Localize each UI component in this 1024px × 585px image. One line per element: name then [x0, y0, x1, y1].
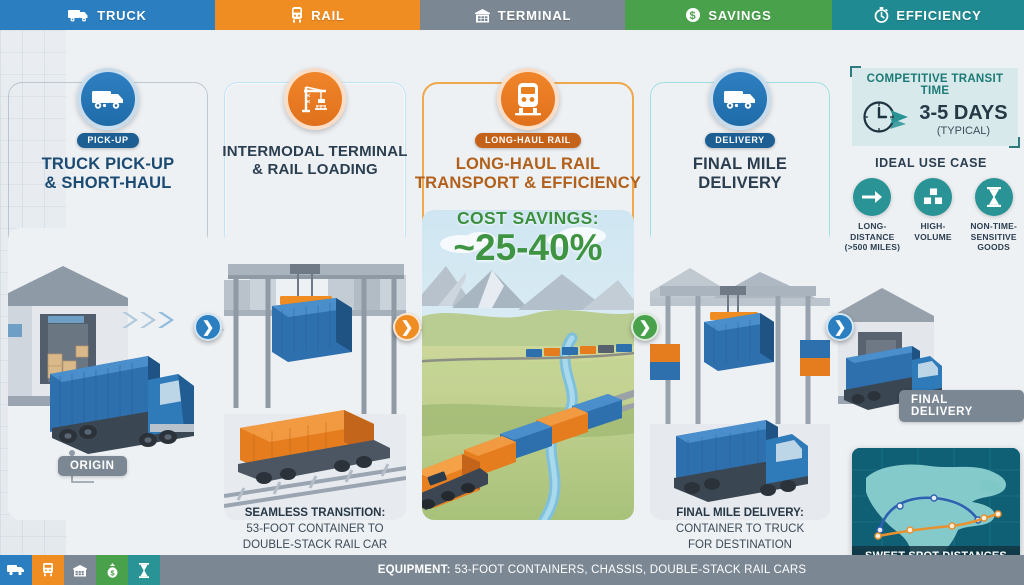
top-segment-efficiency[interactable]: EFFICIENCY — [832, 0, 1024, 30]
scene-final-terminal — [650, 228, 830, 520]
scene-origin-warehouse — [8, 228, 208, 520]
cost-savings-label: COST SAVINGS: — [414, 208, 642, 229]
transit-time-box: COMPETITIVE TRANSIT TIME 3 — [852, 68, 1018, 146]
equipment-text-bar: EQUIPMENT: 53-FOOT CONTAINERS, CHASSIS, … — [160, 555, 1024, 585]
panel-header: INTERMODAL TERMINAL & RAIL LOADING — [216, 68, 414, 178]
cost-savings-value: ~25-40% — [414, 229, 642, 268]
step-title-line2: & SHORT-HAUL — [0, 174, 216, 193]
caption-title: SEAMLESS TRANSITION: — [216, 506, 414, 522]
step-title-line1: INTERMODAL TERMINAL — [216, 143, 414, 161]
top-segment-label: RAIL — [311, 8, 345, 23]
top-segment-label: EFFICIENCY — [896, 8, 981, 23]
truck-icon — [77, 68, 139, 130]
use-case-line-2: SENSITIVE — [963, 232, 1024, 243]
step-badge: PICK-UP — [77, 133, 138, 148]
stopwatch-icon — [874, 7, 889, 23]
step-title-line1: LONG-HAUL RAIL — [414, 155, 642, 174]
use-case-line-1: LONG-DISTANCE — [842, 221, 903, 242]
step-title-line2: & RAIL LOADING — [216, 161, 414, 179]
use-case-line-2: (>500 MILES) — [842, 242, 903, 253]
use-case-line-3: GOODS — [963, 242, 1024, 253]
top-segment-savings[interactable]: $ SAVINGS — [625, 0, 832, 30]
cost-savings-block: COST SAVINGS: ~25-40% — [414, 208, 642, 268]
boxes-icon — [914, 178, 952, 216]
bottom-equipment-bar: $ EQUIPMENT: 53-FOOT CONTAINERS, CHASSIS… — [0, 555, 1024, 585]
chip-train-icon — [32, 555, 64, 585]
dollar-icon: $ — [685, 7, 701, 23]
top-segment-terminal[interactable]: TERMINAL — [420, 0, 625, 30]
top-segment-rail[interactable]: RAIL — [215, 0, 420, 30]
flow-arrow-3[interactable]: ❯ — [631, 313, 659, 341]
panel-header: DELIVERY FINAL MILE DELIVERY — [642, 68, 838, 194]
transit-time-title: COMPETITIVE TRANSIT TIME — [852, 68, 1018, 97]
equipment-label: EQUIPMENT: — [378, 564, 451, 576]
caption-line-1: CONTAINER TO TRUCK — [642, 522, 838, 538]
infographic-canvas: PICK-UP TRUCK PICK-UP & SHORT-HAUL — [0, 30, 1024, 585]
caption-seamless-transition: SEAMLESS TRANSITION: 53-FOOT CONTAINER T… — [216, 506, 414, 554]
caption-line-2: FOR DESTINATION — [642, 538, 838, 554]
corner-bracket-br — [1009, 137, 1020, 148]
step-title-line2: TRANSPORT & EFFICIENCY — [414, 174, 642, 193]
step-title-line1: FINAL MILE — [642, 155, 838, 174]
crane-icon — [284, 68, 346, 130]
step-badge: DELIVERY — [705, 133, 774, 148]
corner-bracket-tl — [850, 66, 861, 77]
top-segment-truck[interactable]: TRUCK — [0, 0, 215, 30]
step-panel-final-mile[interactable]: DELIVERY FINAL MILE DELIVERY — [642, 60, 838, 552]
panel-header: PICK-UP TRUCK PICK-UP & SHORT-HAUL — [0, 68, 216, 194]
top-category-bar: TRUCK RAIL TERMINAL $ SAVINGS EFFICIENCY — [0, 0, 1024, 30]
flow-arrow-4[interactable]: ❯ — [826, 313, 854, 341]
flow-arrow-1[interactable]: ❯ — [194, 313, 222, 341]
use-case-list: LONG-DISTANCE (>500 MILES) HIGH-VOLUME N… — [842, 178, 1024, 253]
step-badge: LONG-HAUL RAIL — [475, 133, 581, 148]
use-case-high-volume[interactable]: HIGH-VOLUME — [903, 178, 964, 253]
clock-arrow-icon — [862, 99, 914, 140]
chip-warehouse-icon — [64, 555, 96, 585]
truck-icon — [68, 8, 90, 23]
top-segment-label: TRUCK — [97, 8, 147, 23]
scene-terminal-crane — [224, 228, 406, 520]
step-panel-intermodal-terminal[interactable]: INTERMODAL TERMINAL & RAIL LOADING — [216, 60, 414, 552]
flow-arrow-2[interactable]: ❯ — [393, 313, 421, 341]
caption-line-1: 53-FOOT CONTAINER TO — [216, 522, 414, 538]
ideal-use-case-title: IDEAL USE CASE — [838, 156, 1024, 170]
caption-line-2: DOUBLE-STACK RAIL CAR — [216, 538, 414, 554]
caption-final-mile: FINAL MILE DELIVERY: CONTAINER TO TRUCK … — [642, 506, 838, 554]
chip-truck-icon — [0, 555, 32, 585]
use-case-non-time-sensitive[interactable]: NON-TIME- SENSITIVE GOODS — [963, 178, 1024, 253]
svg-text:$: $ — [690, 10, 697, 22]
use-case-line-1: HIGH-VOLUME — [903, 221, 964, 242]
use-case-long-distance[interactable]: LONG-DISTANCE (>500 MILES) — [842, 178, 903, 253]
caption-title: FINAL MILE DELIVERY: — [642, 506, 838, 522]
origin-pill: ORIGIN — [58, 456, 127, 476]
train-icon — [290, 7, 304, 23]
transit-typical-note: (TYPICAL) — [919, 125, 1007, 137]
chip-dollar-icon: $ — [96, 555, 128, 585]
truck-icon — [709, 68, 771, 130]
equipment-value: 53-FOOT CONTAINERS, CHASSIS, DOUBLE-STAC… — [455, 564, 807, 576]
step-title-line2: DELIVERY — [642, 174, 838, 193]
step-panel-long-haul-rail[interactable]: LONG-HAUL RAIL LONG-HAUL RAIL TRANSPORT … — [414, 60, 642, 552]
transit-days-value: 3-5 DAYS — [919, 102, 1007, 124]
panel-header: LONG-HAUL RAIL LONG-HAUL RAIL TRANSPORT … — [414, 68, 642, 267]
chip-hourglass-icon — [128, 555, 160, 585]
step-panel-truck-pickup[interactable]: PICK-UP TRUCK PICK-UP & SHORT-HAUL — [0, 60, 216, 552]
top-segment-label: TERMINAL — [498, 8, 572, 23]
use-case-line-1: NON-TIME- — [963, 221, 1024, 232]
step-title-line1: TRUCK PICK-UP — [0, 155, 216, 174]
arrow-right-icon — [853, 178, 891, 216]
final-delivery-pill: FINAL DELIVERY — [899, 390, 1024, 422]
hourglass-icon — [975, 178, 1013, 216]
train-icon — [497, 68, 559, 130]
warehouse-icon — [474, 8, 491, 23]
top-segment-label: SAVINGS — [708, 8, 771, 23]
sidebar-panel: COMPETITIVE TRANSIT TIME 3 — [838, 60, 1024, 552]
